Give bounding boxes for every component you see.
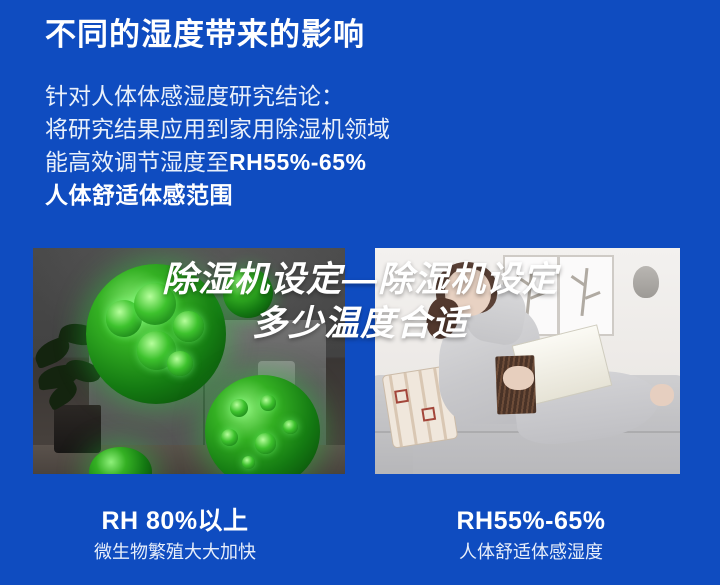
intro-line-4: 人体舒适体感范围: [45, 179, 390, 212]
woman-reading-figure: [375, 248, 680, 474]
photo-panel-right: [375, 248, 680, 474]
bare-foot: [650, 384, 674, 407]
intro-line-2: 将研究结果应用到家用除湿机领域: [45, 113, 390, 146]
caption-right-subtitle: 人体舒适体感湿度: [386, 539, 676, 565]
intro-line-1: 针对人体体感湿度研究结论：: [45, 80, 390, 113]
caption-right-title: RH55%-65%: [386, 506, 676, 536]
virus-spike: [242, 456, 256, 470]
virus-spike: [230, 399, 248, 417]
virus-spike: [260, 395, 276, 411]
microbe-blob: [173, 311, 204, 342]
microbe-tiny-icon: [223, 268, 273, 318]
humidity-range-emphasis: RH55%-65%: [229, 149, 366, 175]
plant-pot: [54, 405, 101, 453]
microbe-blob: [167, 351, 192, 376]
virus-spike: [221, 429, 238, 446]
photo-panel-left: [33, 248, 345, 474]
microbe-cluster-icon: [86, 264, 226, 404]
caption-left: RH 80%以上 微生物繁殖大大加快: [30, 506, 320, 565]
microbe-blob: [134, 283, 176, 325]
virus-spike: [255, 433, 276, 453]
caption-right: RH55%-65% 人体舒适体感湿度: [386, 506, 676, 565]
hand: [503, 366, 534, 391]
intro-paragraph: 针对人体体感湿度研究结论： 将研究结果应用到家用除湿机领域 能高效调节湿度至RH…: [45, 80, 390, 212]
poster-root: 不同的湿度带来的影响 针对人体体感湿度研究结论： 将研究结果应用到家用除湿机领域…: [0, 0, 720, 585]
intro-line-3-prefix: 能高效调节湿度至: [45, 149, 229, 175]
caption-left-subtitle: 微生物繁殖大大加快: [30, 539, 320, 565]
intro-line-3: 能高效调节湿度至RH55%-65%: [45, 146, 390, 179]
page-title: 不同的湿度带来的影响: [45, 16, 365, 55]
virus-spike: [283, 420, 298, 435]
caption-left-title: RH 80%以上: [30, 506, 320, 536]
